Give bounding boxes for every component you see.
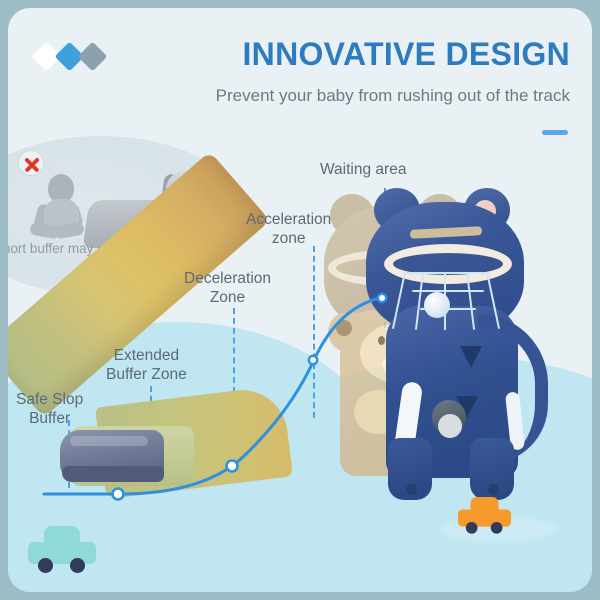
zone-label-acceleration: Acceleration zone (246, 210, 331, 248)
teal-car-wheel-rear (70, 558, 85, 573)
trajectory-curve (8, 8, 592, 592)
outer-frame: INNOVATIVE DESIGN Prevent your baby from… (0, 0, 600, 600)
teal-car-wheel-front (38, 558, 53, 573)
zone-label-safe-slop-buffer: Safe Slop Buffer (16, 390, 83, 428)
zone-label-deceleration: Deceleration Zone (184, 269, 271, 307)
orange-car-wheel-rear (491, 522, 503, 534)
zone-label-waiting-area: Waiting area (320, 160, 406, 179)
infographic-card: INNOVATIVE DESIGN Prevent your baby from… (8, 8, 592, 592)
orange-car-wheel-front (466, 522, 478, 534)
zone-label-extended-buffer: Extended Buffer Zone (106, 346, 187, 384)
